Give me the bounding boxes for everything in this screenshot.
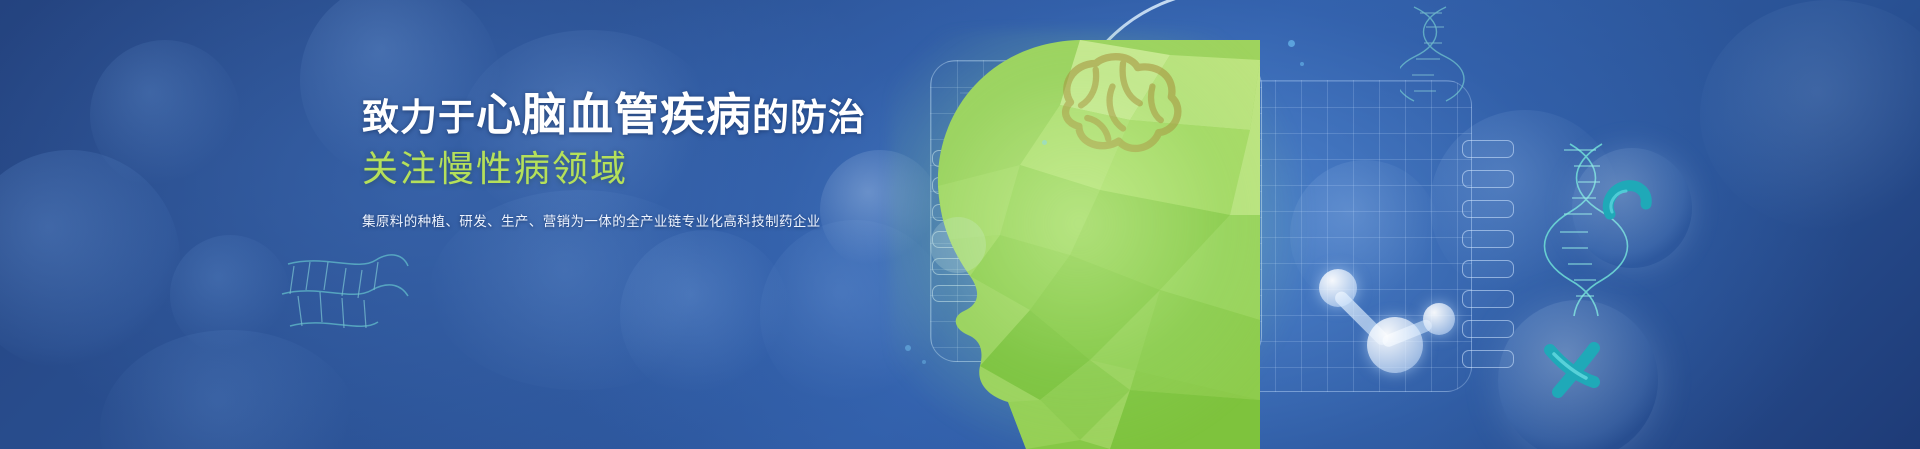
banner-headline: 致力于心脑血管疾病的防治 [362,88,792,141]
bokeh-circle [170,235,290,355]
bokeh-circle [90,40,240,190]
pill-bar [1462,140,1514,158]
dna-helix-icon [280,250,410,370]
hero-banner: 致力于心脑血管疾病的防治 关注慢性病领域 集原料的种植、研发、生产、营销为一体的… [0,0,1920,449]
pill-bar [1462,290,1514,308]
headline-emphasis: 心脑血管疾病 [476,89,752,140]
dna-helix-icon [1530,140,1650,320]
pill-bar [1462,230,1514,248]
headline-prefix: 致力于 [362,97,476,138]
banner-tagline: 集原料的种植、研发、生产、营销为一体的全产业链专业化高科技制药企业 [362,212,792,232]
pill-bar [1462,200,1514,218]
headline-suffix: 的防治 [752,97,866,138]
bacteria-rod-icon [1532,330,1622,420]
pill-bar [1462,260,1514,278]
bokeh-circle [1430,110,1620,300]
bokeh-circle [1700,0,1920,230]
bokeh-circle [620,230,790,400]
bacteria-rod-icon [1600,172,1660,232]
bokeh-circle [100,330,360,449]
banner-subheadline: 关注慢性病领域 [362,147,792,190]
pill-bar [1462,320,1514,338]
human-head-graphic [830,0,1450,449]
bacteria-cell-icon [1498,300,1658,449]
bokeh-circle [0,150,180,370]
head-glow [890,30,1310,449]
bacteria-cell-icon [1572,148,1692,268]
banner-copy: 致力于心脑血管疾病的防治 关注慢性病领域 集原料的种植、研发、生产、营销为一体的… [362,88,792,233]
pill-bar [1462,170,1514,188]
pill-bar [1462,350,1514,368]
